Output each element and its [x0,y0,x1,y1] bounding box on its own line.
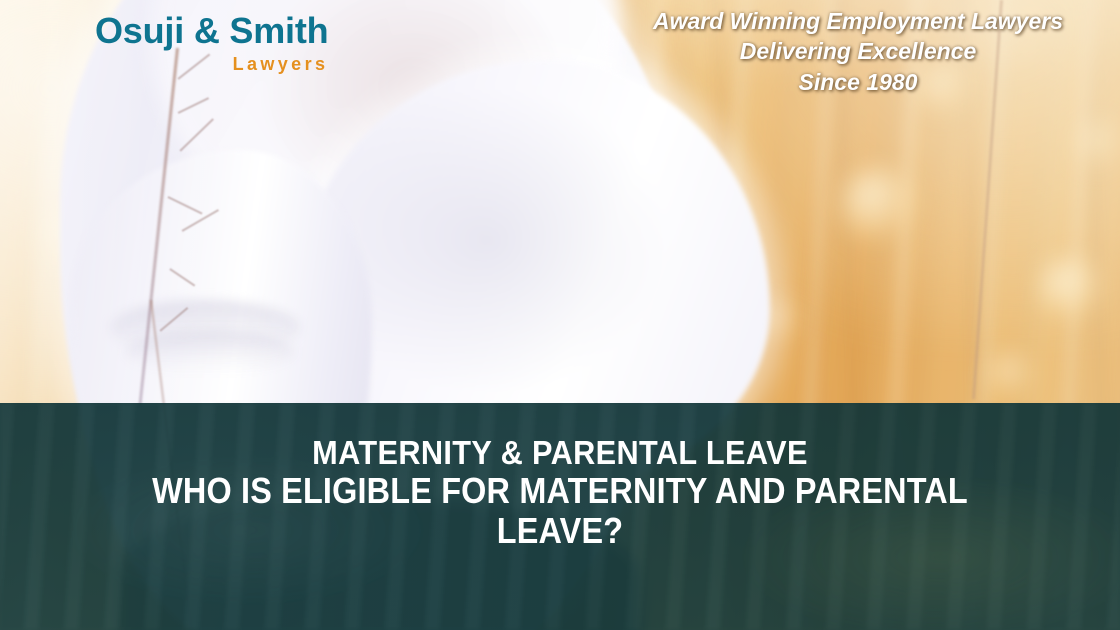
brand-name: Osuji & Smith [95,13,328,49]
logo-wordmark: Osuji & Smith Lawyers [95,13,328,73]
headline-line-3: LEAVE? [56,512,1064,550]
brand-subtitle: Lawyers [95,55,328,73]
tagline-line-1: Award Winning Employment Lawyers [608,6,1108,36]
headline-block: MATERNITY & PARENTAL LEAVE WHO IS ELIGIB… [0,436,1120,550]
headline-overlay-band: MATERNITY & PARENTAL LEAVE WHO IS ELIGIB… [0,403,1120,630]
tagline-line-3: Since 1980 [608,67,1108,97]
maternity-leave-banner: Osuji & Smith Lawyers Award Winning Empl… [0,0,1120,630]
headline-line-1: MATERNITY & PARENTAL LEAVE [39,436,1081,470]
headline-line-2: WHO IS ELIGIBLE FOR MATERNITY AND PARENT… [56,472,1064,510]
tagline-line-2: Delivering Excellence [608,36,1108,66]
tagline-block: Award Winning Employment Lawyers Deliver… [608,6,1108,97]
interlocking-rings-icon [14,8,86,78]
company-logo[interactable]: Osuji & Smith Lawyers [14,8,328,78]
